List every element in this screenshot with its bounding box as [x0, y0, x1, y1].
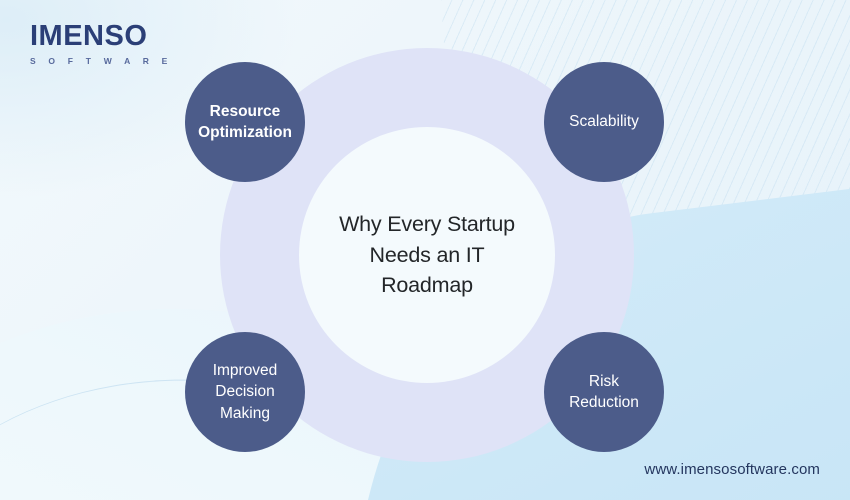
node-risk-reduction[interactable]: Risk Reduction [544, 332, 664, 452]
center-title: Why Every Startup Needs an IT Roadmap [299, 127, 555, 383]
node-improved-decision-making[interactable]: Improved Decision Making [185, 332, 305, 452]
node-scalability[interactable]: Scalability [544, 62, 664, 182]
center-title-line-1: Why Every Startup [339, 209, 515, 240]
node-label-line-1: Risk [569, 371, 639, 392]
node-label-line-1: Scalability [569, 111, 639, 132]
company-logo: IMENSO S O F T W A R E [30, 22, 173, 66]
node-label-group: Scalability [569, 111, 639, 132]
website-url[interactable]: www.imensosoftware.com [644, 461, 820, 478]
logo-wordmark: IMENSO [30, 22, 173, 51]
node-label-line-3: Making [213, 403, 278, 424]
center-title-line-3: Roadmap [381, 270, 473, 301]
node-label-line-1: Resource [198, 101, 292, 122]
node-label-group: Improved Decision Making [213, 360, 278, 423]
node-label-line-2: Optimization [198, 122, 292, 143]
node-label-line-2: Reduction [569, 392, 639, 413]
center-title-line-2: Needs an IT [370, 240, 485, 271]
node-label-group: Resource Optimization [198, 101, 292, 143]
infographic-canvas: IMENSO S O F T W A R E Why Every Startup… [0, 0, 850, 500]
node-label-line-2: Decision [213, 381, 278, 402]
node-label-line-1: Improved [213, 360, 278, 381]
node-resource-optimization[interactable]: Resource Optimization [185, 62, 305, 182]
logo-tagline: S O F T W A R E [30, 56, 173, 66]
node-label-group: Risk Reduction [569, 371, 639, 413]
